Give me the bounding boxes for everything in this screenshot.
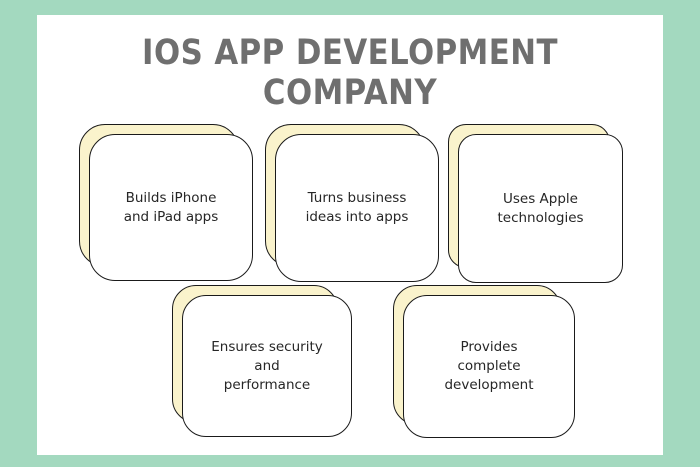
card-label: Provides complete development bbox=[434, 338, 543, 395]
card-label: Uses Apple technologies bbox=[487, 190, 593, 228]
feature-card-turns-business-ideas-into-apps[interactable]: Turns business ideas into apps bbox=[265, 124, 440, 282]
feature-card-builds-iphone-and-ipad-apps[interactable]: Builds iPhone and iPad apps bbox=[79, 124, 254, 282]
card-label: Builds iPhone and iPad apps bbox=[114, 189, 229, 227]
page-title-line-1: IOS APP DEVELOPMENT bbox=[75, 33, 626, 73]
card-face: Builds iPhone and iPad apps bbox=[89, 134, 253, 281]
poster-canvas: IOS APP DEVELOPMENT COMPANY Builds iPhon… bbox=[37, 15, 663, 455]
page-title: IOS APP DEVELOPMENT COMPANY bbox=[37, 33, 663, 113]
card-face: Ensures security and performance bbox=[182, 295, 352, 437]
card-face: Turns business ideas into apps bbox=[275, 134, 439, 282]
page-title-line-2: COMPANY bbox=[75, 73, 626, 113]
card-face: Provides complete development bbox=[403, 295, 575, 438]
feature-card-ensures-security-and-performance[interactable]: Ensures security and performance bbox=[172, 285, 352, 438]
feature-card-uses-apple-technologies[interactable]: Uses Apple technologies bbox=[448, 124, 624, 284]
card-face: Uses Apple technologies bbox=[458, 134, 623, 283]
card-label: Turns business ideas into apps bbox=[296, 189, 419, 227]
infographic-poster: IOS APP DEVELOPMENT COMPANY Builds iPhon… bbox=[0, 0, 700, 467]
card-label: Ensures security and performance bbox=[201, 338, 332, 395]
feature-card-provides-complete-development[interactable]: Provides complete development bbox=[393, 285, 575, 439]
